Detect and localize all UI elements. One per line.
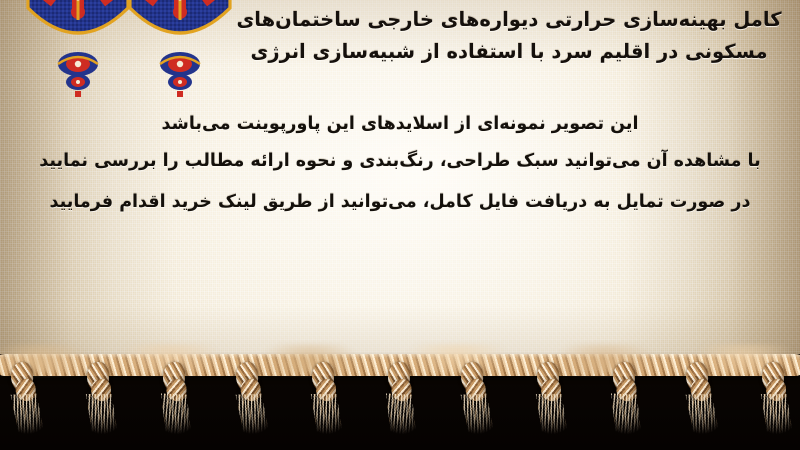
fringe-tassel: [456, 361, 493, 436]
fringe-strands: [161, 393, 192, 436]
slide-text-layer: کامل بهینه‌سازی حرارتی دیواره‌های خارجی …: [0, 0, 800, 372]
presentation-slide: کامل بهینه‌سازی حرارتی دیواره‌های خارجی …: [0, 0, 800, 450]
fringe-tassel: [83, 362, 117, 436]
fringe-strands: [311, 394, 344, 436]
body-line-2: با مشاهده آن می‌توانید سبک طراحی، رنگ‌بن…: [18, 141, 782, 182]
fringe-tassel: [681, 361, 718, 436]
fringe-tassel: [6, 361, 43, 436]
fringe-tassel: [606, 361, 643, 436]
fringe-tassel: [758, 362, 792, 436]
fringe-strands: [235, 393, 269, 436]
title-line-1: کامل بهینه‌سازی حرارتی دیواره‌های خارجی …: [236, 4, 782, 36]
fringe-strands: [761, 394, 794, 436]
title-line-2: مسکونی در اقلیم سرد با استفاده از شبیه‌س…: [236, 36, 782, 68]
body-line-3: در صورت تمایل به دریافت فایل کامل، می‌تو…: [18, 182, 782, 223]
fringe-tassel: [533, 362, 567, 436]
fringe-tassel: [308, 362, 342, 436]
fringe-strands: [386, 393, 417, 436]
fringe-tassel: [156, 361, 193, 436]
fringe-strands: [536, 394, 569, 436]
body-line-1: این تصویر نمونه‌ای از اسلایدهای این پاور…: [18, 108, 782, 141]
fringe-strands: [611, 393, 642, 436]
fringe-strands: [460, 393, 494, 436]
slide-title: کامل بهینه‌سازی حرارتی دیواره‌های خارجی …: [236, 4, 782, 67]
fringe-strands: [10, 393, 44, 436]
fringe-strands: [685, 393, 719, 436]
slide-body: این تصویر نمونه‌ای از اسلایدهای این پاور…: [18, 108, 782, 223]
fringe-tassel: [381, 361, 418, 436]
fringe-strands: [86, 394, 119, 436]
fringe-tassel: [231, 361, 268, 436]
